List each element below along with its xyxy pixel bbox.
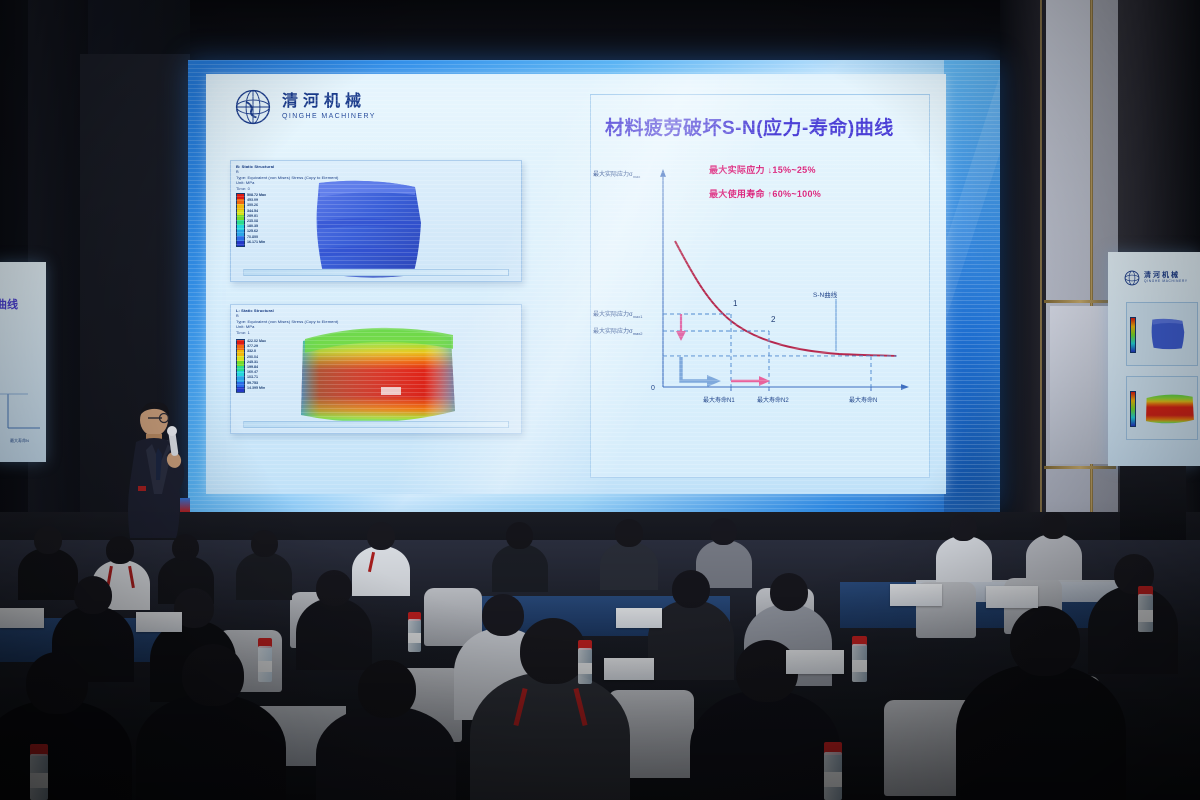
fea-panel-2-colorbar xyxy=(236,339,245,393)
audience-head xyxy=(672,570,710,608)
fea-panel-1: B: Static Structural B Type: Equivalent … xyxy=(230,160,522,282)
wall-trim-3 xyxy=(1044,300,1116,303)
presentation-slide: 清河机械 QINGHE MACHINERY B: Static Structur… xyxy=(206,74,946,494)
side-screen-left: 曲线 最大寿命N xyxy=(0,262,46,462)
water-bottle xyxy=(408,612,421,652)
audience-person xyxy=(18,548,78,600)
side-screen-fea-2 xyxy=(1126,376,1198,440)
audience-person xyxy=(956,664,1126,800)
sn-curve-panel: 材料疲劳破坏S-N(应力-寿命)曲线 xyxy=(590,94,930,478)
y-tick-1: 最大实际应力σmax1 xyxy=(593,309,643,319)
fea-panel-2-scalebar xyxy=(243,421,509,428)
bottle-label xyxy=(824,772,842,787)
curve-point-1-label: 1 xyxy=(733,299,737,308)
wall-light-box xyxy=(1050,306,1110,464)
wall-trim-2 xyxy=(1040,0,1042,560)
audience-head xyxy=(251,530,278,557)
bottle-label xyxy=(852,660,867,672)
audience-person xyxy=(352,546,410,596)
audience-person xyxy=(296,598,372,670)
side-screen-fea-1 xyxy=(1126,302,1198,366)
y-tick-1-label: 最大实际应力σ xyxy=(593,312,633,318)
audience-person xyxy=(316,706,456,800)
audience-head xyxy=(1040,512,1067,539)
fea-panel-1-colorbar xyxy=(236,193,245,247)
side-screen-left-content: 曲线 最大寿命N xyxy=(0,262,46,462)
side-screen-left-axis-text: 最大寿命N xyxy=(10,438,29,444)
lanyard xyxy=(128,566,135,588)
side-screen-globe-logo-icon xyxy=(1124,270,1140,286)
bottle-label xyxy=(30,773,48,788)
wall-panel-a xyxy=(1046,0,1090,560)
audience-person xyxy=(1088,586,1178,674)
y-tick-1-sub: max1 xyxy=(633,314,643,319)
audience-head xyxy=(74,576,112,614)
name-card xyxy=(0,608,44,628)
audience-head xyxy=(770,573,808,611)
audience-person xyxy=(470,672,630,800)
x-tick-n2: 最大寿命N2 xyxy=(757,395,789,404)
fea-panel-2: L: Static Structural B Type: Equivalent … xyxy=(230,304,522,434)
audience-head xyxy=(506,522,533,549)
water-bottle xyxy=(852,636,867,682)
audience-person xyxy=(1026,534,1082,580)
fea-panel-2-legend: 422.02 Max 377.29 332.0 290.04 245.31 19… xyxy=(236,339,266,393)
water-bottle xyxy=(578,640,592,684)
audience-head xyxy=(615,519,643,547)
fea-panel-1-legend: 508.72 Max 453.09 399.26 344.54 289.81 2… xyxy=(236,193,266,247)
annotation-stress-reduction: 最大实际应力 ↓15%~25% xyxy=(709,163,816,176)
presenter-figure xyxy=(112,398,208,538)
annotation-life-increase: 最大使用寿命 ↑60%~100% xyxy=(709,187,821,200)
side-screen-left-mini-chart xyxy=(0,388,42,438)
side-screen-left-text: 曲线 xyxy=(0,296,18,312)
audience-head xyxy=(34,526,62,554)
fea-panel-1-model xyxy=(289,177,449,281)
main-led-screen: 清河机械 QINGHE MACHINERY B: Static Structur… xyxy=(188,60,1000,512)
brand-logo: 清河机械 QINGHE MACHINERY xyxy=(234,88,376,126)
wall-trim-4 xyxy=(1044,466,1116,469)
led-abstract-background xyxy=(944,60,1000,512)
water-bottle xyxy=(1138,586,1153,632)
lanyard xyxy=(368,552,375,572)
name-card xyxy=(986,586,1038,608)
y-tick-0: 最大实际应力σmax xyxy=(593,169,640,179)
name-card xyxy=(786,650,844,674)
audience-head xyxy=(950,514,977,541)
globe-logo-icon xyxy=(234,88,272,126)
name-card xyxy=(890,584,942,606)
bottle-label xyxy=(408,633,421,643)
audience-head xyxy=(520,618,586,684)
audience-person xyxy=(936,536,992,582)
audience-person xyxy=(236,552,292,600)
origin-label: 0 xyxy=(651,385,655,392)
lanyard xyxy=(573,688,587,726)
led-surface: 清河机械 QINGHE MACHINERY B: Static Structur… xyxy=(188,60,1000,512)
audience-head xyxy=(106,536,134,564)
audience-head xyxy=(316,570,352,606)
water-bottle xyxy=(258,638,272,682)
legend-value: 14.395 Min xyxy=(247,386,266,391)
audience-head xyxy=(710,518,737,545)
fea-panel-1-scalebar xyxy=(243,269,509,276)
name-card xyxy=(136,612,182,632)
y-tick-2-sub: max2 xyxy=(633,331,643,336)
photo-scene: 清河机械 QINGHE MACHINERY B: Static Structur… xyxy=(0,0,1200,800)
side-screen-right: 清河机械 QINGHE MACHINERY xyxy=(1108,252,1200,466)
side-screen-brand-en: QINGHE MACHINERY xyxy=(1144,279,1188,283)
legend-value: 16.171 Min xyxy=(247,240,266,245)
fea-panel-2-legend-values: 422.02 Max 377.29 332.0 290.04 245.31 19… xyxy=(247,339,266,393)
water-bottle xyxy=(824,742,842,800)
audience-head xyxy=(482,594,524,636)
side-screen-fea-2-model xyxy=(1141,382,1197,434)
y-tick-2-label: 最大实际应力σ xyxy=(593,329,633,335)
audience-person xyxy=(492,544,548,592)
audience-head xyxy=(367,522,395,550)
water-bottle xyxy=(30,744,48,800)
name-card xyxy=(604,658,654,680)
audience-person xyxy=(600,542,658,590)
audience-head xyxy=(358,660,416,718)
bottle-label xyxy=(258,661,272,672)
brand-name-cn: 清河机械 xyxy=(282,94,376,110)
y-tick-0-label: 最大实际应力σ xyxy=(593,172,633,178)
y-tick-2: 最大实际应力σmax2 xyxy=(593,326,643,336)
fea-panel-2-model xyxy=(285,315,465,431)
fea-panel-1-legend-values: 508.72 Max 453.09 399.26 344.54 289.81 2… xyxy=(247,193,266,247)
audience-head xyxy=(26,652,88,714)
chart-title: 材料疲劳破坏S-N(应力-寿命)曲线 xyxy=(605,113,894,140)
audience-person xyxy=(690,690,840,800)
sn-curve-plot: 最大实际应力σmax 最大实际应力σmax1 最大实际应力σmax2 最大实际应… xyxy=(591,151,929,471)
stage-marker xyxy=(180,498,190,512)
audience-head xyxy=(172,534,199,561)
name-card xyxy=(616,608,662,628)
side-screen-fea-2-colorbar xyxy=(1130,391,1136,427)
bottle-label xyxy=(578,663,592,674)
y-tick-0-sub: max xyxy=(633,174,641,179)
lanyard xyxy=(513,688,527,726)
curve-point-2-label: 2 xyxy=(771,315,775,324)
side-screen-fea-1-model xyxy=(1143,309,1193,359)
x-tick-n: 最大寿命N xyxy=(849,395,877,404)
audience-head xyxy=(1010,606,1080,676)
wall-trim-1 xyxy=(1090,0,1093,560)
x-tick-n1: 最大寿命N1 xyxy=(703,395,735,404)
side-screen-fea-1-colorbar xyxy=(1130,317,1136,353)
audience-head xyxy=(182,644,244,706)
audience-person xyxy=(136,694,286,800)
presenter xyxy=(112,398,208,538)
sn-curve-callout: S-N曲线 xyxy=(813,289,837,299)
bottle-label xyxy=(1138,610,1153,622)
side-screen-right-content: 清河机械 QINGHE MACHINERY xyxy=(1108,252,1200,466)
brand-name-en: QINGHE MACHINERY xyxy=(282,113,376,120)
